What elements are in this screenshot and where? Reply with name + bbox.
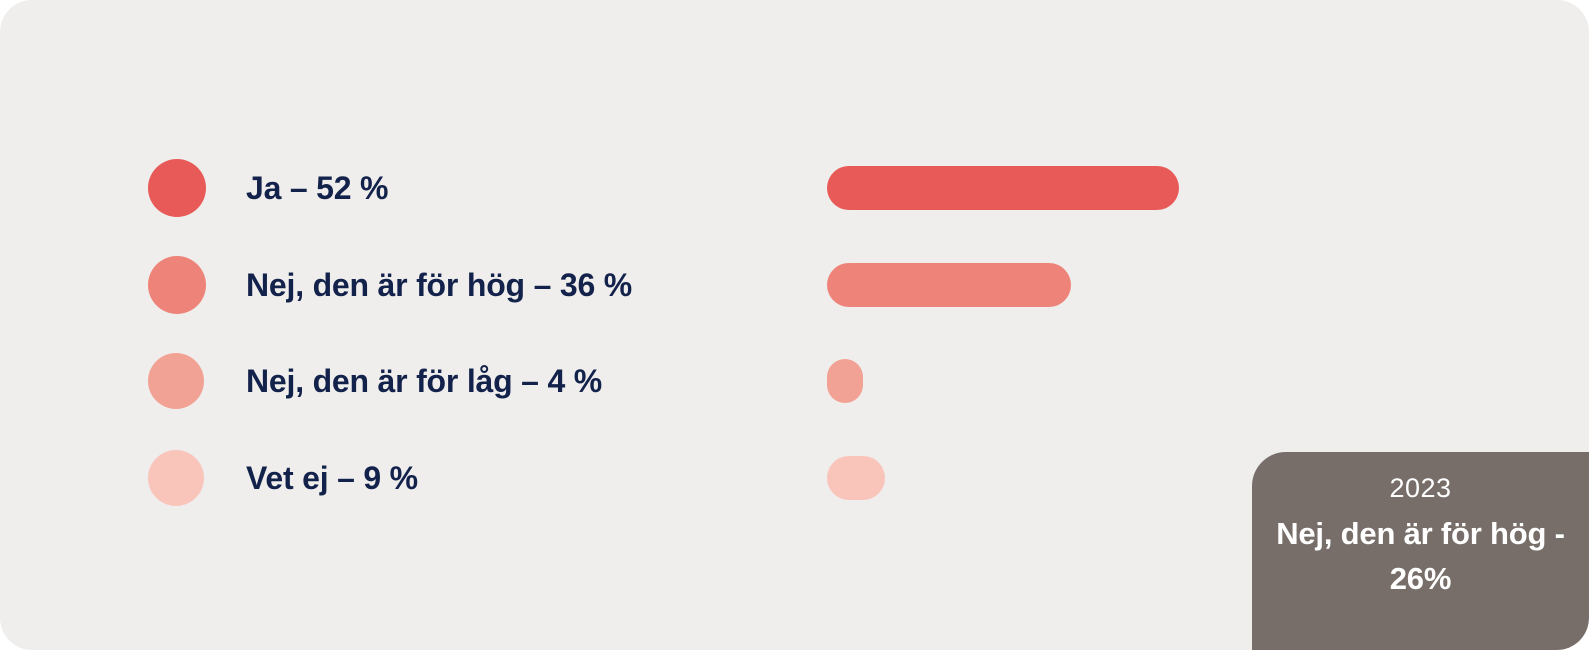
legend-item-ja[interactable]: Ja – 52 % <box>148 158 388 218</box>
legend-item-nej-for-hog[interactable]: Nej, den är för hög – 36 % <box>148 255 632 315</box>
tooltip-year-label: 2023 <box>1274 474 1567 504</box>
bar-row <box>827 255 1071 315</box>
bar-row <box>827 351 863 411</box>
bar-row <box>827 448 885 508</box>
bar-nej-for-lag[interactable] <box>827 359 863 403</box>
bar-nej-for-hog[interactable] <box>827 263 1071 307</box>
bar-vet-ej[interactable] <box>827 456 885 500</box>
chart-tooltip: 2023 Nej, den är för hög - 26% <box>1252 452 1589 650</box>
legend-item-label: Ja – 52 % <box>246 172 388 204</box>
legend-color-swatch-icon <box>148 353 204 409</box>
legend-color-swatch-icon <box>148 159 206 217</box>
legend-item-vet-ej[interactable]: Vet ej – 9 % <box>148 448 418 508</box>
legend-item-label: Vet ej – 9 % <box>246 462 418 494</box>
legend-color-swatch-icon <box>148 450 204 506</box>
legend-color-swatch-icon <box>148 256 206 314</box>
legend-item-label: Nej, den är för låg – 4 % <box>246 365 602 397</box>
bar-row <box>827 158 1179 218</box>
chart-card: Ja – 52 % Nej, den är för hög – 36 % Nej… <box>0 0 1589 650</box>
legend-item-nej-for-lag[interactable]: Nej, den är för låg – 4 % <box>148 351 602 411</box>
bar-ja[interactable] <box>827 166 1179 210</box>
tooltip-value-label: Nej, den är för hög - 26% <box>1274 512 1567 602</box>
legend-item-label: Nej, den är för hög – 36 % <box>246 269 632 301</box>
